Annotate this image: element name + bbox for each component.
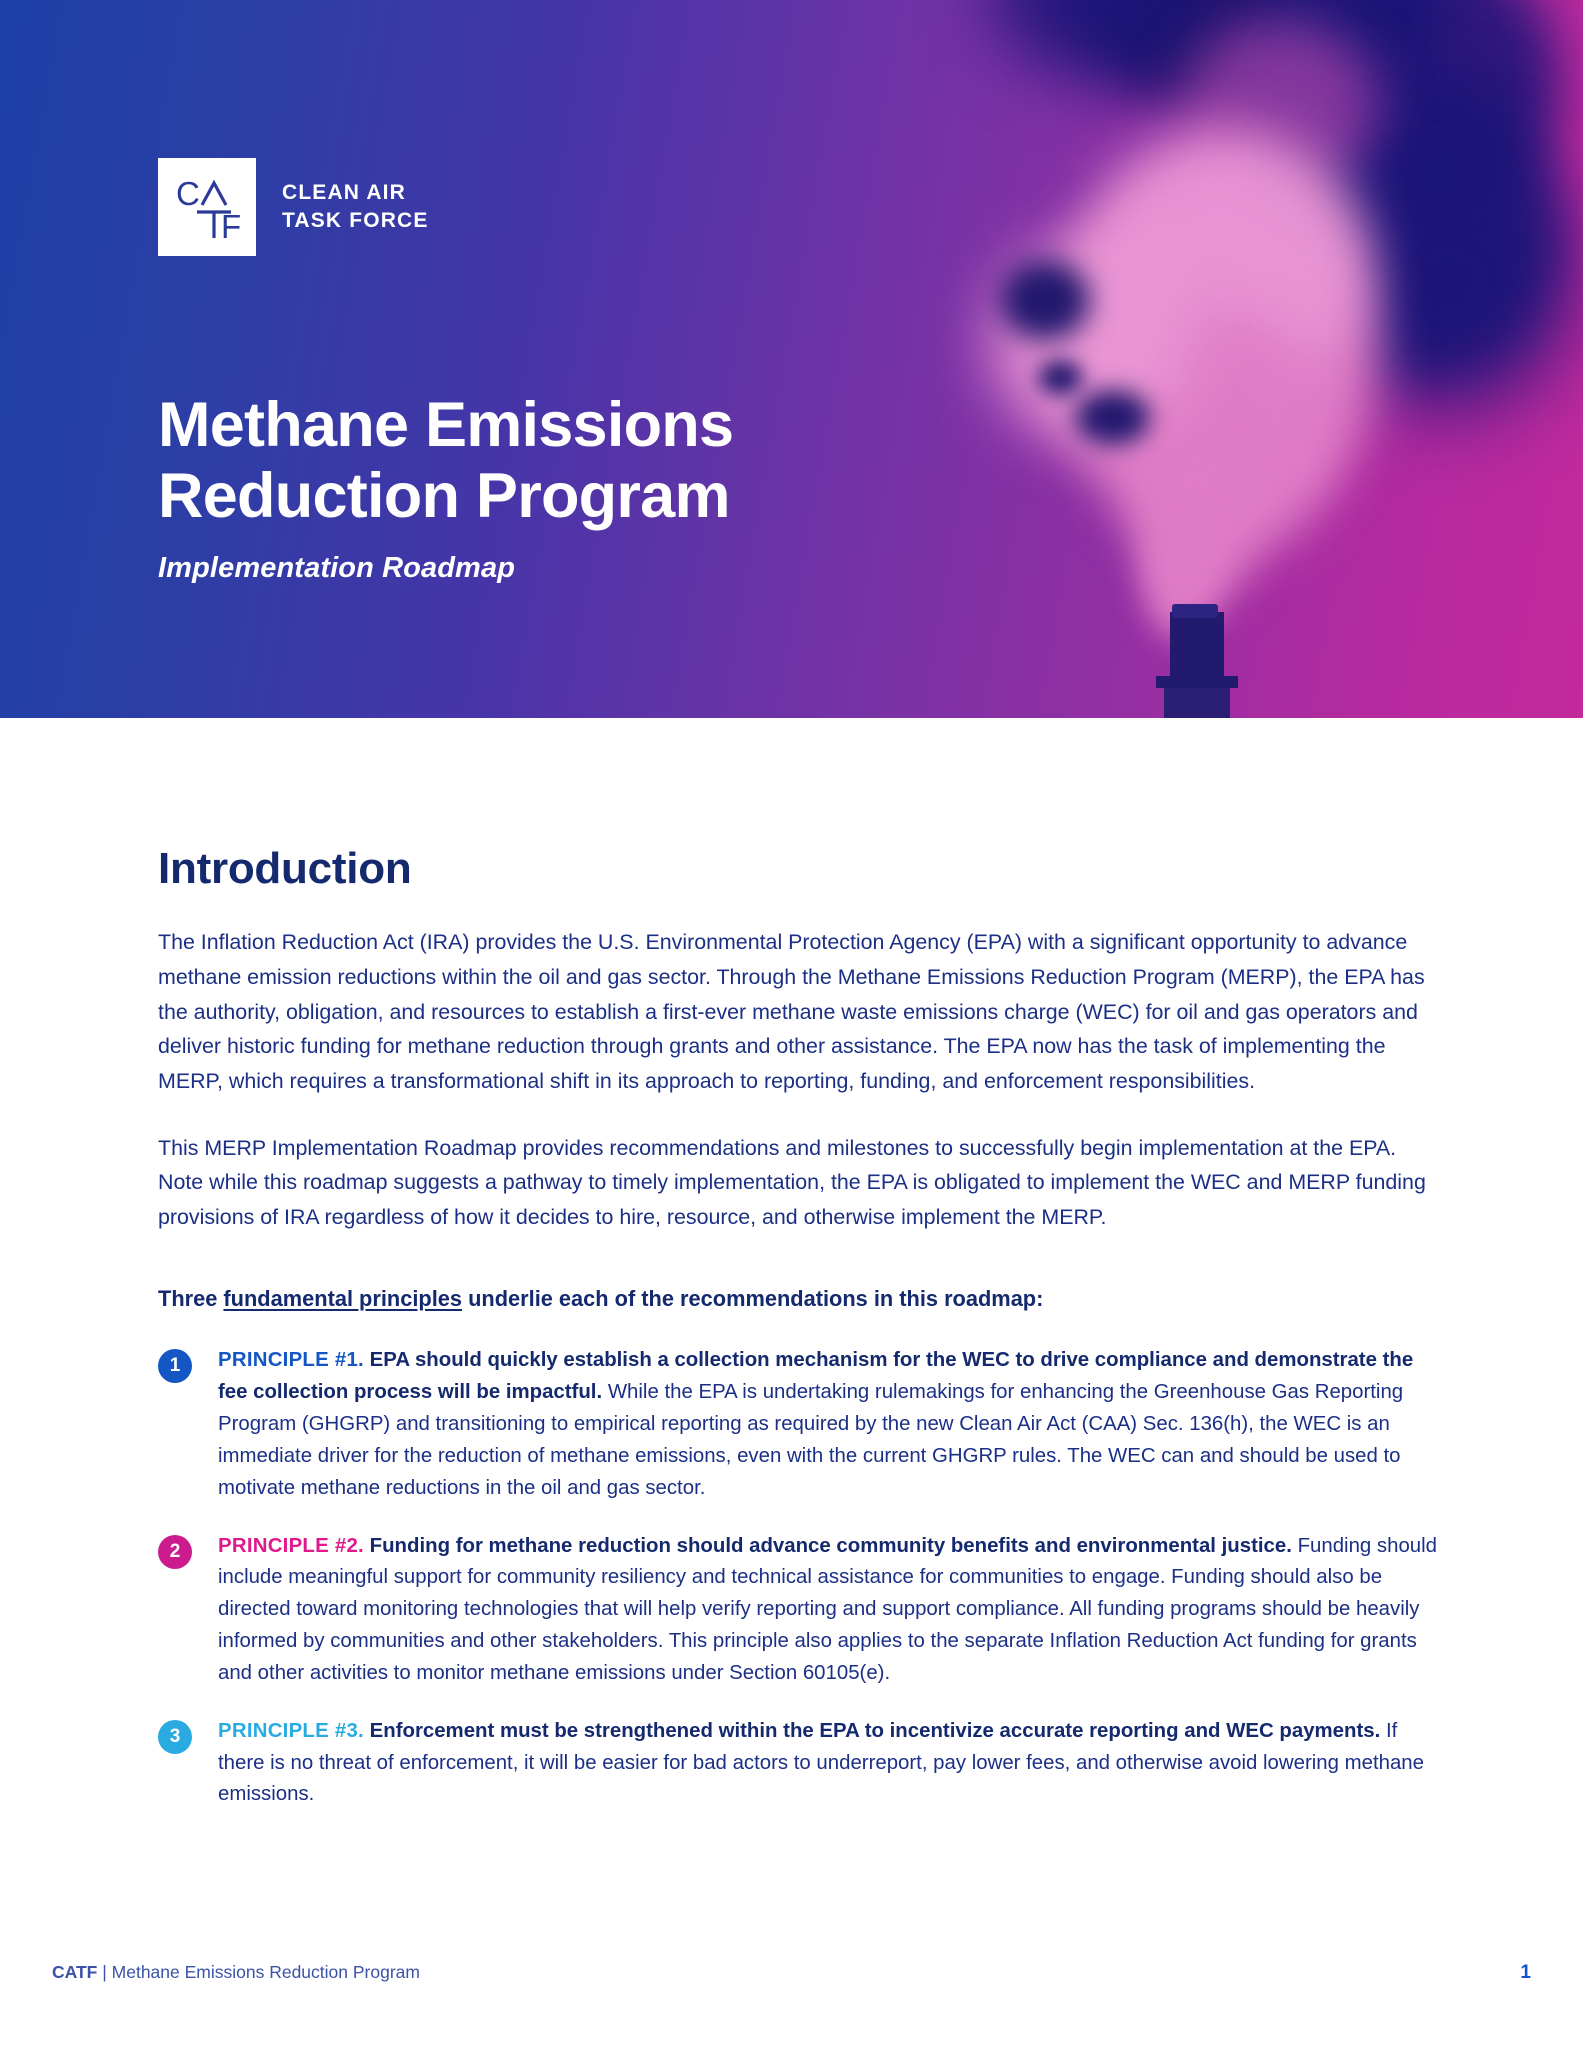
page-number: 1 [1520,1962,1531,1984]
page-title: Methane Emissions Reduction Program [158,390,733,532]
lead-in-before: Three [158,1286,223,1311]
page-footer: CATF | Methane Emissions Reduction Progr… [0,1962,1583,1984]
lead-in-after: underlie each of the recommendations in … [462,1286,1043,1311]
principle-tag: PRINCIPLE #2. [218,1535,364,1557]
catf-logo-mark-icon: C F [158,158,256,256]
catf-logo-wordmark: CLEAN AIR TASK FORCE [282,179,429,235]
principle-text: PRINCIPLE #3. Enforcement must be streng… [218,1716,1438,1811]
principle-item: 2 PRINCIPLE #2. Funding for methane redu… [158,1531,1438,1690]
principle-bold-lead: Funding for methane reduction should adv… [370,1535,1292,1557]
principles-lead-in: Three fundamental principles underlie ea… [158,1283,1438,1316]
section-heading-introduction: Introduction [158,845,1438,893]
principle-number-badge: 1 [158,1349,192,1383]
page-title-line-2: Reduction Program [158,461,730,531]
svg-text:C: C [176,175,201,212]
principle-tag: PRINCIPLE #1. [218,1349,364,1371]
footer-org: CATF [52,1962,97,1982]
svg-text:F: F [221,208,241,245]
catf-logo-lockup[interactable]: C F CLEAN AIR TASK FORCE [158,158,429,256]
logo-org-line-1: CLEAN AIR [282,179,429,207]
footer-separator: | [97,1962,111,1982]
footer-document-label: CATF | Methane Emissions Reduction Progr… [52,1962,420,1983]
lead-in-underlined: fundamental principles [223,1286,462,1311]
principle-text: PRINCIPLE #1. EPA should quickly establi… [218,1345,1438,1504]
document-body: Introduction The Inflation Reduction Act… [0,718,1583,1811]
intro-paragraph-2: This MERP Implementation Roadmap provide… [158,1131,1438,1235]
footer-doc-title: Methane Emissions Reduction Program [112,1962,420,1982]
logo-org-line-2: TASK FORCE [282,207,429,235]
principle-bold-lead: Enforcement must be strengthened within … [370,1720,1381,1742]
page-subtitle: Implementation Roadmap [158,552,515,585]
principle-item: 1 PRINCIPLE #1. EPA should quickly estab… [158,1345,1438,1504]
document-page: C F CLEAN AIR TASK FORCE Methane Emissio… [0,0,1583,2048]
principle-number-badge: 2 [158,1535,192,1569]
principle-item: 3 PRINCIPLE #3. Enforcement must be stre… [158,1716,1438,1811]
smokestack-silhouette [1170,612,1171,613]
hero-banner: C F CLEAN AIR TASK FORCE Methane Emissio… [0,0,1583,718]
principles-list: 1 PRINCIPLE #1. EPA should quickly estab… [158,1345,1438,1811]
intro-paragraph-1: The Inflation Reduction Act (IRA) provid… [158,925,1438,1098]
principle-number-badge: 3 [158,1720,192,1754]
principle-tag: PRINCIPLE #3. [218,1720,364,1742]
smokestack-plume-image [930,0,1583,600]
principle-text: PRINCIPLE #2. Funding for methane reduct… [218,1531,1438,1690]
page-title-line-1: Methane Emissions [158,390,733,460]
